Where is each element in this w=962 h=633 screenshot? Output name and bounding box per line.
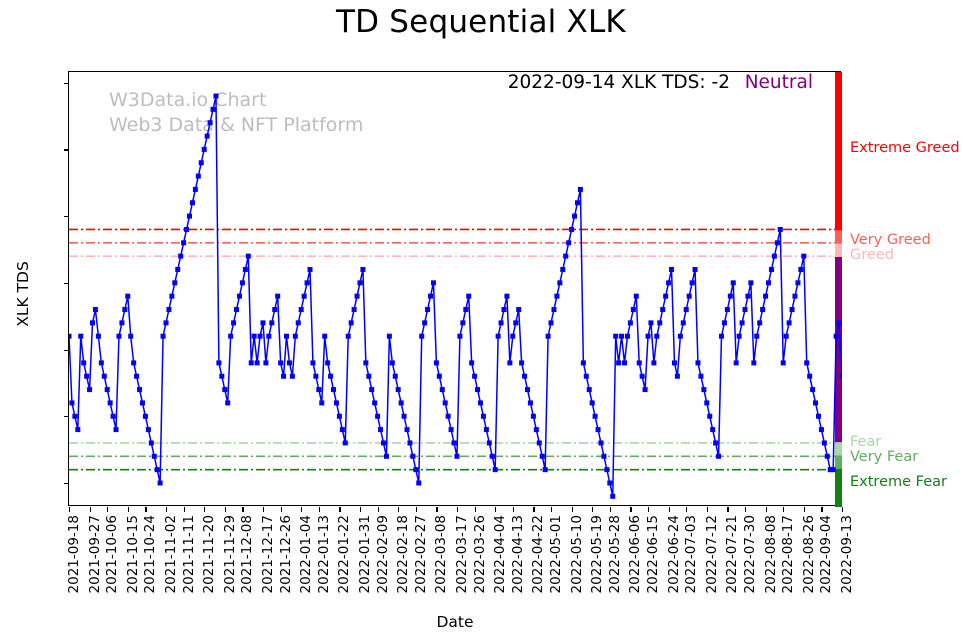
series-marker: [643, 387, 648, 392]
series-marker: [352, 307, 357, 312]
series-marker: [349, 320, 354, 325]
x-tick-label: 2021-10-24: [142, 515, 158, 593]
series-marker: [446, 414, 451, 419]
series-marker: [463, 307, 468, 312]
series-marker: [199, 160, 204, 165]
x-tick-mark: [630, 507, 631, 512]
series-marker: [105, 387, 110, 392]
series-marker: [795, 280, 800, 285]
series-marker: [96, 334, 101, 339]
series-marker: [302, 294, 307, 299]
series-marker: [125, 294, 130, 299]
x-tick-mark: [707, 507, 708, 512]
series-marker: [255, 360, 260, 365]
series-marker: [490, 454, 495, 459]
series-marker: [252, 334, 257, 339]
series-marker: [631, 307, 636, 312]
series-marker: [725, 307, 730, 312]
x-tick-label: 2021-12-08: [239, 515, 255, 593]
series-marker: [551, 307, 556, 312]
series-marker: [310, 360, 315, 365]
series-marker: [681, 320, 686, 325]
x-tick-label: 2021-12-17: [260, 515, 276, 593]
series-marker: [443, 400, 448, 405]
x-tick-mark: [475, 507, 476, 512]
series-marker: [305, 280, 310, 285]
page-title: TD Sequential XLK: [0, 4, 962, 40]
series-marker: [119, 320, 124, 325]
series-marker: [363, 360, 368, 365]
x-tick-label: 2022-07-21: [724, 515, 740, 593]
y-tick-mark: [64, 283, 69, 284]
x-tick-mark: [204, 507, 205, 512]
x-tick-label: 2021-09-27: [87, 515, 103, 593]
x-tick-mark: [281, 507, 282, 512]
series-marker: [484, 427, 489, 432]
series-marker: [707, 414, 712, 419]
series-marker: [716, 454, 721, 459]
series-marker: [504, 294, 509, 299]
series-marker: [246, 254, 251, 259]
series-marker: [678, 334, 683, 339]
zone-bars: [835, 72, 842, 507]
series-marker: [566, 240, 571, 245]
series-marker: [713, 440, 718, 445]
series-marker: [440, 387, 445, 392]
series-marker: [281, 374, 286, 379]
series-marker: [163, 320, 168, 325]
series-marker: [760, 307, 765, 312]
series-marker: [822, 440, 827, 445]
series-marker: [240, 280, 245, 285]
series-marker: [640, 374, 645, 379]
series-marker: [554, 294, 559, 299]
x-tick-label: 2022-01-13: [316, 515, 332, 593]
series-marker: [328, 374, 333, 379]
series-marker: [748, 280, 753, 285]
series-marker: [684, 307, 689, 312]
series-marker: [637, 360, 642, 365]
series-marker: [87, 387, 92, 392]
series-marker: [278, 360, 283, 365]
series-marker: [651, 360, 656, 365]
series-marker: [590, 400, 595, 405]
x-tick-label: 2021-10-15: [125, 515, 141, 593]
x-tick-label: 2021-09-18: [66, 515, 82, 593]
series-marker: [152, 454, 157, 459]
annotation-state: Neutral: [745, 72, 813, 93]
series-marker: [208, 120, 213, 125]
series-marker: [308, 267, 313, 272]
x-tick-label: 2022-09-13: [839, 515, 855, 593]
x-tick-mark: [495, 507, 496, 512]
series-marker: [837, 320, 842, 325]
series-marker: [695, 360, 700, 365]
series-marker: [202, 147, 207, 152]
x-tick-mark: [821, 507, 822, 512]
series-marker: [449, 427, 454, 432]
chart-page: TD Sequential XLK W3Data.io Chart Web3 D…: [0, 0, 962, 633]
series-marker: [249, 360, 254, 365]
series-marker: [628, 320, 633, 325]
series-marker: [781, 360, 786, 365]
series-marker: [175, 267, 180, 272]
series-marker: [422, 320, 427, 325]
series-marker: [296, 320, 301, 325]
x-tick-label: 2022-07-03: [683, 515, 699, 593]
zone-bar: [835, 470, 842, 507]
zone-label-very-fear: Very Fear: [850, 449, 918, 465]
x-tick-mark: [804, 507, 805, 512]
x-tick-label: 2022-09-04: [818, 515, 834, 593]
series-marker: [784, 334, 789, 339]
x-tick-mark: [242, 507, 243, 512]
x-tick-label: 2022-06-15: [645, 515, 661, 593]
plot-area: W3Data.io Chart Web3 Data & NFT Platform…: [68, 71, 841, 506]
zone-bar: [835, 229, 842, 242]
x-tick-label: 2021-11-11: [181, 515, 197, 593]
series-marker: [187, 214, 192, 219]
series-marker: [75, 427, 80, 432]
series-marker: [299, 307, 304, 312]
series-marker: [111, 414, 116, 419]
series-marker: [313, 374, 318, 379]
annotation-value: 2022-09-14 XLK TDS: -2: [508, 72, 730, 93]
series-marker: [84, 374, 89, 379]
series-marker: [737, 334, 742, 339]
zone-bar: [835, 456, 842, 469]
series-marker: [572, 214, 577, 219]
x-tick-label: 2022-05-28: [607, 515, 623, 593]
series-marker: [728, 294, 733, 299]
x-tick-label: 2022-01-31: [357, 515, 373, 593]
series-marker: [593, 414, 598, 419]
series-marker: [407, 440, 412, 445]
series-marker: [410, 454, 415, 459]
series-marker: [340, 427, 345, 432]
series-marker: [263, 360, 268, 365]
series-marker: [469, 360, 474, 365]
series-marker: [575, 200, 580, 205]
x-tick-mark: [533, 507, 534, 512]
series-marker: [434, 360, 439, 365]
series-marker: [787, 320, 792, 325]
x-tick-mark: [128, 507, 129, 512]
series-marker: [428, 294, 433, 299]
x-tick-label: 2022-01-22: [336, 515, 352, 593]
x-tick-mark: [592, 507, 593, 512]
series-marker: [475, 387, 480, 392]
series-marker: [158, 480, 163, 485]
x-tick-mark: [648, 507, 649, 512]
x-tick-label: 2022-05-10: [569, 515, 585, 593]
series-marker: [181, 240, 186, 245]
series-marker: [801, 254, 806, 259]
series-marker: [687, 294, 692, 299]
x-tick-mark: [398, 507, 399, 512]
series-marker: [563, 254, 568, 259]
series-marker: [384, 454, 389, 459]
series-marker: [663, 294, 668, 299]
x-tick-mark: [301, 507, 302, 512]
x-tick-mark: [378, 507, 379, 512]
series-marker: [116, 334, 121, 339]
series-marker: [346, 334, 351, 339]
series-marker: [513, 320, 518, 325]
annotation-row: 2022-09-14 XLK TDS: -2 Neutral: [69, 72, 842, 102]
series-marker: [543, 467, 548, 472]
x-tick-label: 2022-07-30: [742, 515, 758, 593]
series-marker: [648, 320, 653, 325]
series-marker: [137, 387, 142, 392]
x-tick-label: 2022-02-09: [375, 515, 391, 593]
series-marker: [769, 267, 774, 272]
zone-bar: [835, 243, 842, 256]
series-marker: [607, 480, 612, 485]
series-marker: [372, 400, 377, 405]
series-marker: [740, 320, 745, 325]
x-tick-label: 2022-03-26: [472, 515, 488, 593]
series-marker: [405, 427, 410, 432]
series-marker: [425, 307, 430, 312]
series-marker: [269, 320, 274, 325]
series-marker: [481, 414, 486, 419]
series-marker: [431, 280, 436, 285]
series-marker: [131, 360, 136, 365]
series-marker: [337, 414, 342, 419]
series-marker: [99, 360, 104, 365]
series-marker: [128, 334, 133, 339]
series-marker: [487, 440, 492, 445]
series-marker: [540, 454, 545, 459]
series-marker: [810, 387, 815, 392]
series-marker: [375, 414, 380, 419]
x-tick-label: 2021-11-02: [163, 515, 179, 593]
series-marker: [334, 400, 339, 405]
series-marker: [743, 307, 748, 312]
x-axis-label: Date: [436, 613, 473, 631]
series-marker: [690, 280, 695, 285]
series-marker: [719, 334, 724, 339]
series-marker: [228, 334, 233, 339]
series-marker: [598, 440, 603, 445]
x-tick-mark: [107, 507, 108, 512]
series-marker: [816, 414, 821, 419]
series-marker: [343, 440, 348, 445]
series-marker: [114, 427, 119, 432]
series-marker: [166, 307, 171, 312]
series-marker: [625, 334, 630, 339]
x-tick-label: 2022-08-26: [801, 515, 817, 593]
y-tick-mark: [64, 83, 69, 84]
zone-label-extreme-greed: Extreme Greed: [850, 140, 960, 156]
series-marker: [357, 280, 362, 285]
zone-label-very-greed: Very Greed: [850, 232, 931, 248]
series-marker: [293, 334, 298, 339]
series-marker: [143, 414, 148, 419]
series-marker: [243, 267, 248, 272]
series-marker: [219, 374, 224, 379]
tds-series: [69, 94, 842, 499]
series-marker: [437, 374, 442, 379]
series-marker: [355, 294, 360, 299]
series-marker: [290, 374, 295, 379]
series-marker: [260, 320, 265, 325]
series-marker: [399, 400, 404, 405]
series-marker: [108, 400, 113, 405]
series-marker: [81, 360, 86, 365]
series-marker: [569, 227, 574, 232]
series-marker: [287, 360, 292, 365]
series-marker: [454, 454, 459, 459]
series-marker: [378, 427, 383, 432]
x-tick-label: 2022-07-12: [704, 515, 720, 593]
series-marker: [390, 360, 395, 365]
series-marker: [360, 267, 365, 272]
x-tick-label: 2022-05-19: [589, 515, 605, 593]
series-marker: [205, 134, 210, 139]
x-tick-label: 2022-04-22: [530, 515, 546, 593]
series-marker: [507, 360, 512, 365]
series-marker: [272, 307, 277, 312]
x-tick-mark: [69, 507, 70, 512]
series-marker: [525, 387, 530, 392]
series-marker: [193, 187, 198, 192]
series-marker: [460, 320, 465, 325]
series-marker: [646, 334, 651, 339]
series-marker: [366, 374, 371, 379]
series-marker: [557, 280, 562, 285]
series-marker: [672, 360, 677, 365]
x-tick-label: 2022-06-06: [627, 515, 643, 593]
series-marker: [804, 360, 809, 365]
series-marker: [798, 267, 803, 272]
series-marker: [284, 334, 289, 339]
x-tick-label: 2022-02-18: [395, 515, 411, 593]
series-marker: [701, 387, 706, 392]
series-marker: [387, 334, 392, 339]
series-marker: [519, 360, 524, 365]
series-marker: [416, 480, 421, 485]
series-marker: [275, 294, 280, 299]
series-marker: [819, 427, 824, 432]
threshold-lines: [69, 229, 842, 469]
series-marker: [322, 334, 327, 339]
series-marker: [763, 294, 768, 299]
series-marker: [660, 307, 665, 312]
series-marker: [734, 360, 739, 365]
series-marker: [578, 187, 583, 192]
series-marker: [478, 400, 483, 405]
series-marker: [560, 267, 565, 272]
series-marker: [840, 374, 843, 379]
x-tick-mark: [263, 507, 264, 512]
series-marker: [457, 334, 462, 339]
series-marker: [657, 320, 662, 325]
series-marker: [587, 387, 592, 392]
series-marker: [807, 374, 812, 379]
series-marker: [211, 107, 216, 112]
series-marker: [596, 427, 601, 432]
series-marker: [331, 387, 336, 392]
series-marker: [790, 307, 795, 312]
series-marker: [698, 374, 703, 379]
series-marker: [134, 374, 139, 379]
x-tick-mark: [686, 507, 687, 512]
series-marker: [766, 280, 771, 285]
x-tick-label: 2021-10-06: [104, 515, 120, 593]
series-marker: [531, 414, 536, 419]
series-marker: [493, 467, 498, 472]
x-tick-mark: [360, 507, 361, 512]
x-tick-mark: [572, 507, 573, 512]
x-tick-mark: [145, 507, 146, 512]
series-marker: [534, 427, 539, 432]
x-tick-label: 2021-12-26: [278, 515, 294, 593]
zone-label-fear: Fear: [850, 434, 881, 450]
series-marker: [155, 467, 160, 472]
series-marker: [546, 334, 551, 339]
x-tick-mark: [783, 507, 784, 512]
x-tick-mark: [436, 507, 437, 512]
series-marker: [190, 200, 195, 205]
x-tick-label: 2022-02-27: [413, 515, 429, 593]
series-marker: [466, 294, 471, 299]
series-marker: [237, 294, 242, 299]
x-tick-mark: [166, 507, 167, 512]
series-marker: [140, 400, 145, 405]
x-tick-mark: [90, 507, 91, 512]
series-marker: [775, 240, 780, 245]
x-tick-label: 2022-01-04: [298, 515, 314, 593]
series-marker: [778, 227, 783, 232]
series-marker: [499, 320, 504, 325]
x-tick-label: 2021-11-20: [201, 515, 217, 593]
series-marker: [834, 334, 839, 339]
series-marker: [396, 387, 401, 392]
y-tick-mark: [64, 216, 69, 217]
series-marker: [72, 414, 77, 419]
x-tick-mark: [745, 507, 746, 512]
x-tick-label: 2022-08-17: [780, 515, 796, 593]
series-marker: [831, 467, 836, 472]
series-marker: [654, 334, 659, 339]
series-marker: [813, 400, 818, 405]
series-marker: [616, 360, 621, 365]
x-tick-mark: [339, 507, 340, 512]
zone-bar: [835, 443, 842, 456]
series-marker: [510, 334, 515, 339]
series-marker: [704, 400, 709, 405]
series-marker: [754, 334, 759, 339]
series-marker: [619, 334, 624, 339]
series-marker: [231, 320, 236, 325]
x-tick-mark: [842, 507, 843, 512]
series-marker: [584, 374, 589, 379]
series-marker: [502, 307, 507, 312]
series-marker: [216, 360, 221, 365]
x-tick-label: 2022-08-08: [763, 515, 779, 593]
series-marker: [731, 280, 736, 285]
y-tick-mark: [64, 483, 69, 484]
zone-label-greed: Greed: [850, 247, 894, 263]
series-marker: [178, 254, 183, 259]
series-marker: [316, 387, 321, 392]
series-marker: [825, 454, 830, 459]
series-marker: [369, 387, 374, 392]
series-marker: [604, 467, 609, 472]
x-tick-mark: [727, 507, 728, 512]
